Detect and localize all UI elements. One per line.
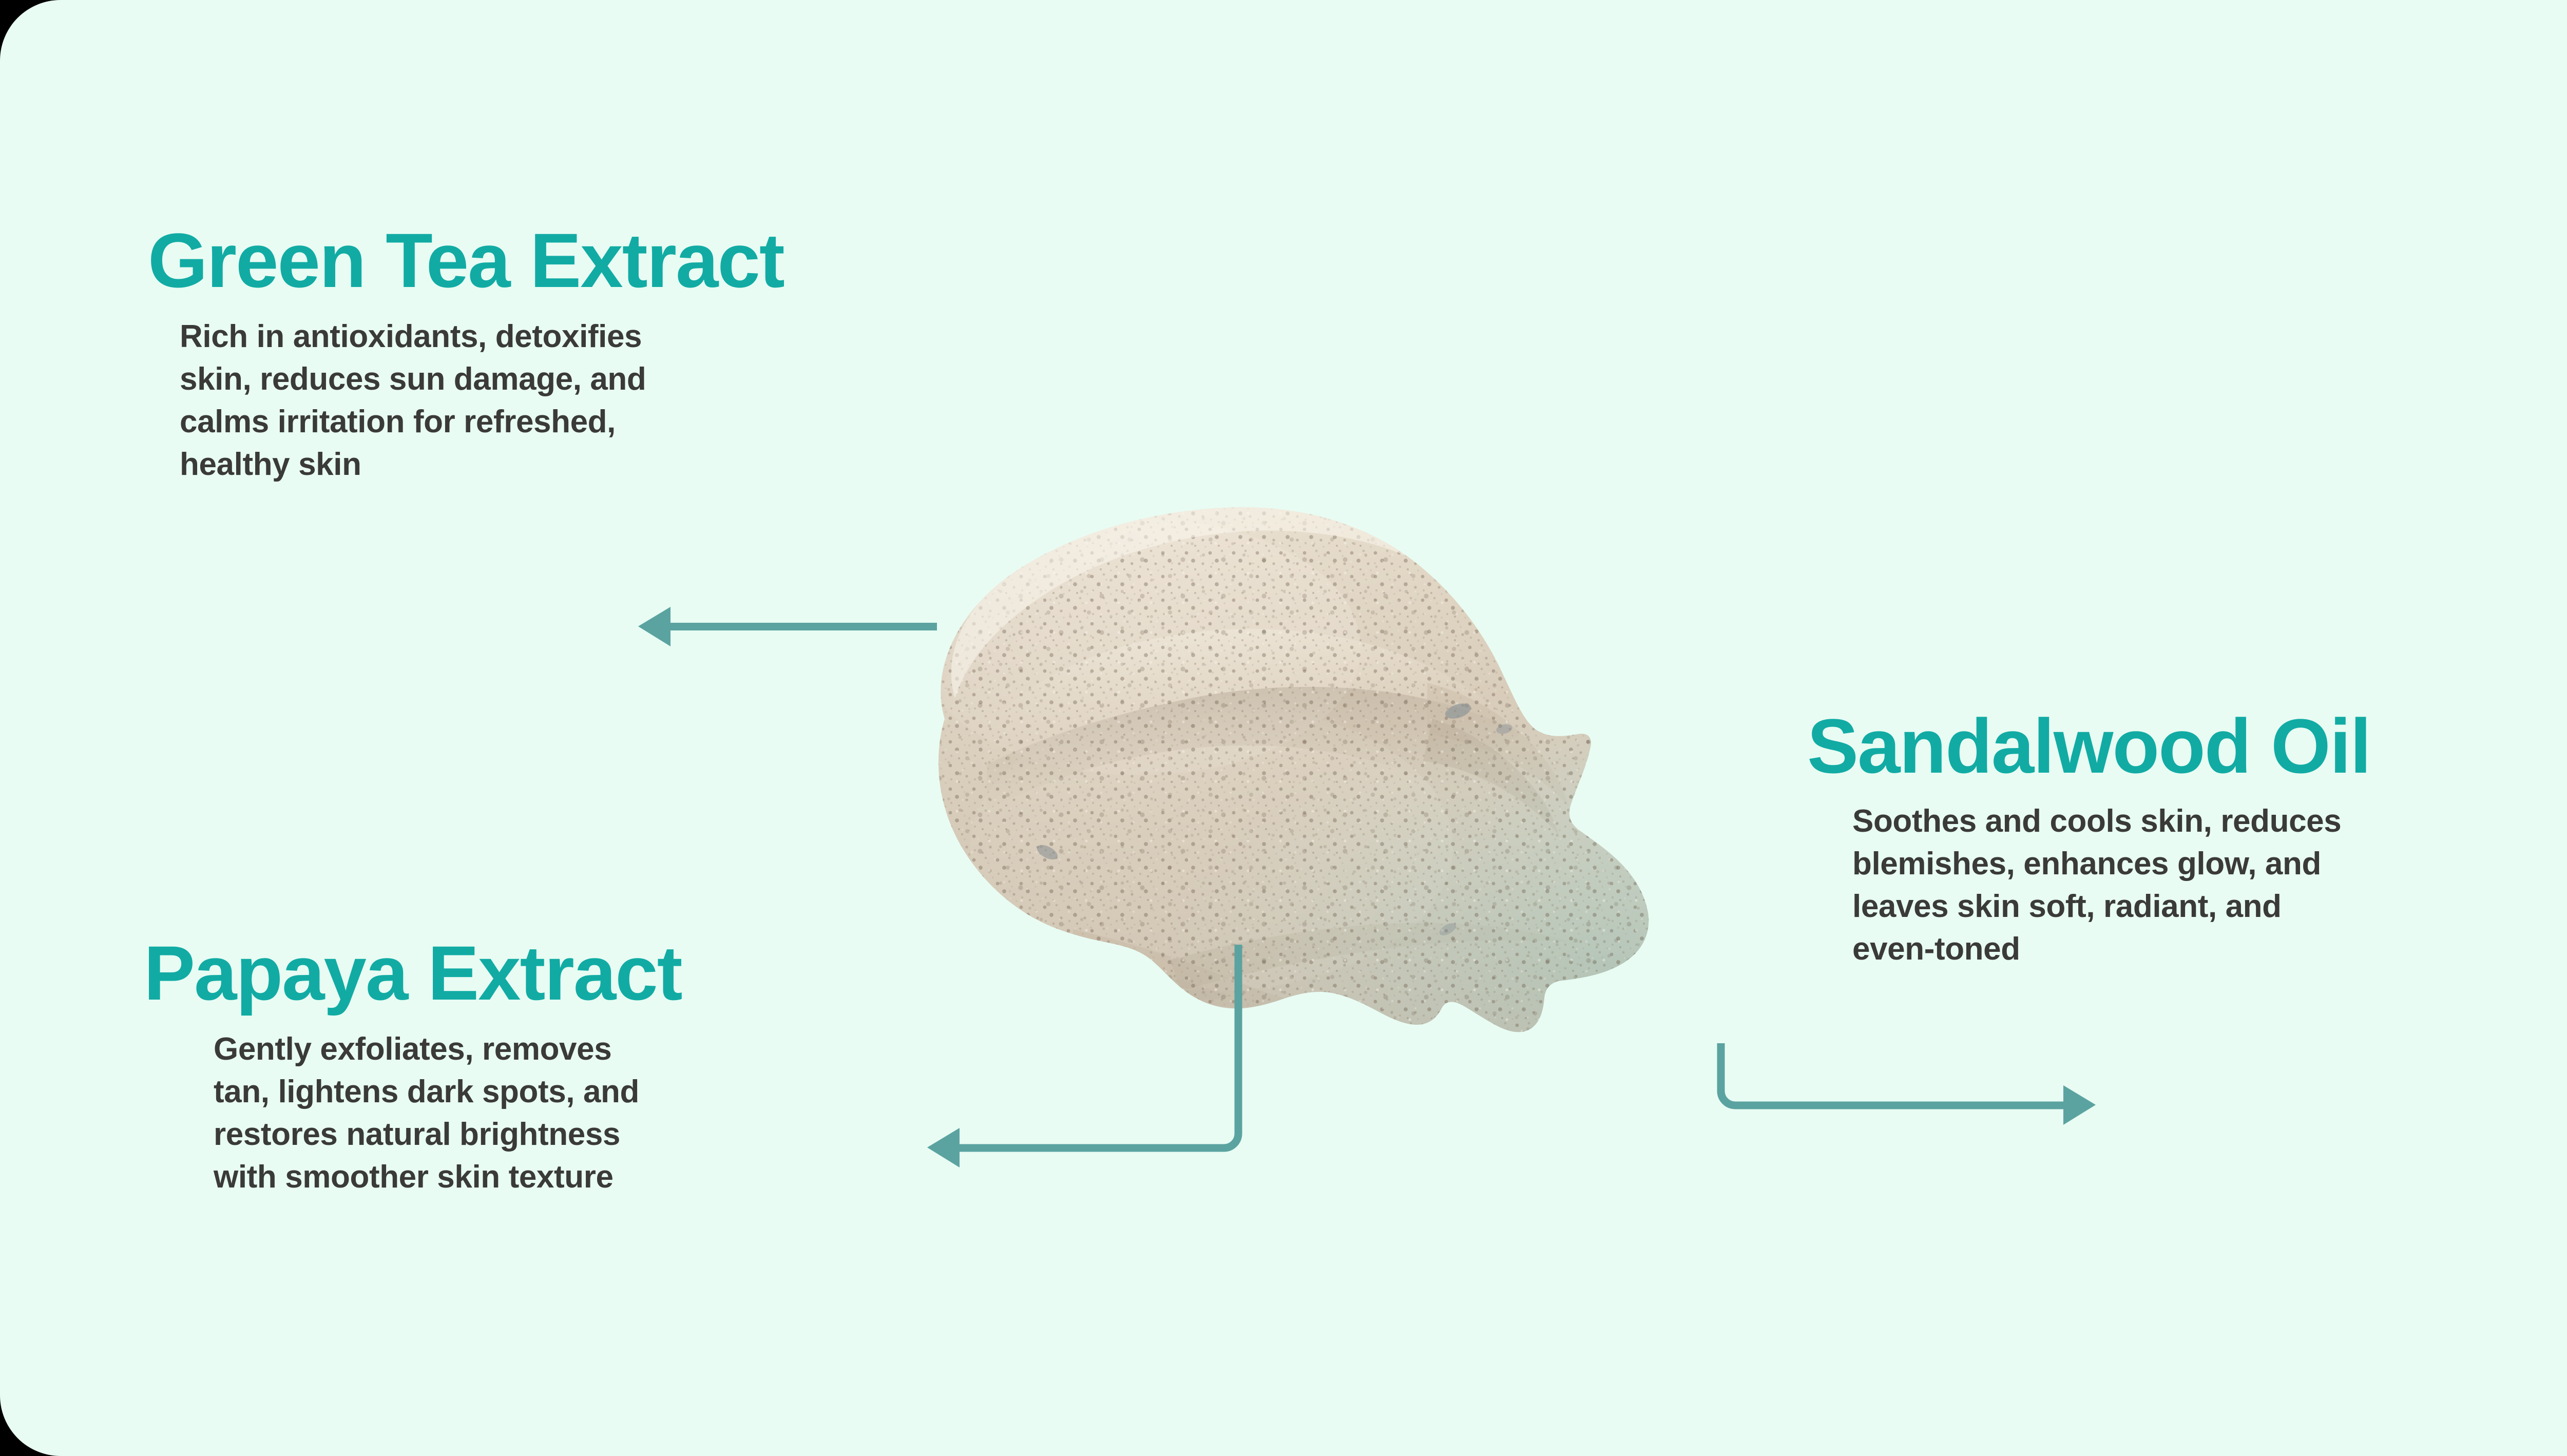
ingredient-heading-papaya: Papaya Extract: [144, 934, 682, 1011]
face-scrub-cream-swatch: [852, 477, 1848, 1073]
ingredient-description-green-tea: Rich in antioxidants, detoxifies skin, r…: [180, 315, 784, 486]
ingredient-heading-green-tea: Green Tea Extract: [148, 222, 784, 299]
ingredient-block-sandalwood: Sandalwood Oil Soothes and cools skin, r…: [1807, 707, 2370, 970]
ingredient-description-papaya: Gently exfoliates, removes tan, lightens…: [214, 1028, 682, 1198]
infographic-card: Green Tea Extract Rich in antioxidants, …: [0, 0, 2567, 1456]
ingredient-heading-sandalwood: Sandalwood Oil: [1807, 707, 2370, 784]
ingredient-block-green-tea: Green Tea Extract Rich in antioxidants, …: [148, 222, 784, 486]
ingredient-block-papaya: Papaya Extract Gently exfoliates, remove…: [144, 934, 682, 1198]
ingredient-description-sandalwood: Soothes and cools skin, reduces blemishe…: [1852, 800, 2370, 970]
